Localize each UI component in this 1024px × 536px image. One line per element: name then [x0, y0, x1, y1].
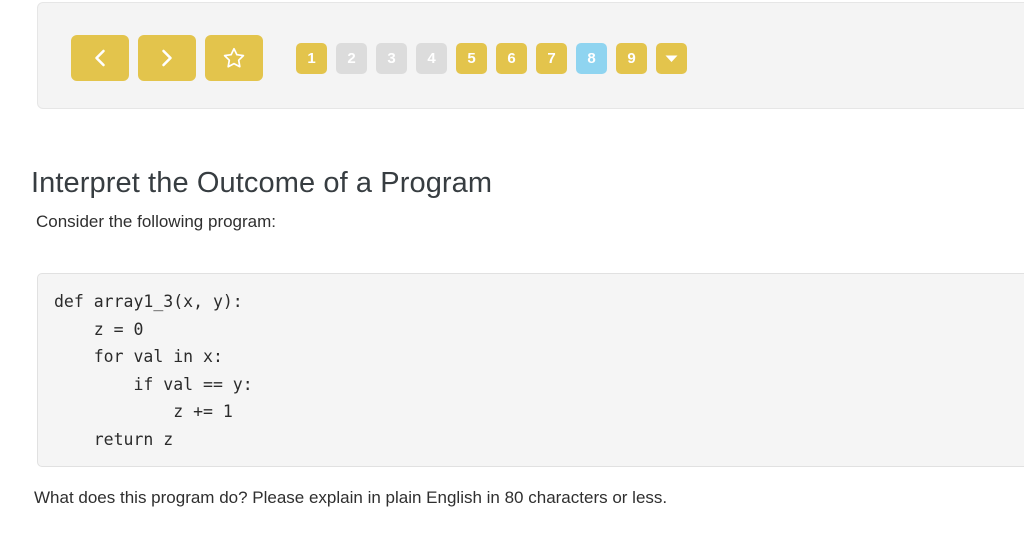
caret-down-icon [665, 51, 678, 66]
page-title: Interpret the Outcome of a Program [31, 167, 492, 200]
page-dropdown-button[interactable] [656, 43, 687, 74]
next-button[interactable] [138, 35, 196, 81]
favorite-button[interactable] [205, 35, 263, 81]
toolbar-panel: 1 2 3 4 5 6 7 8 9 [37, 2, 1024, 109]
chevron-right-icon [157, 47, 177, 69]
page-button-7[interactable]: 7 [536, 43, 567, 74]
pagination: 1 2 3 4 5 6 7 8 9 [296, 43, 687, 74]
code-text: def array1_3(x, y): z = 0 for val in x: … [54, 288, 253, 453]
page-button-4[interactable]: 4 [416, 43, 447, 74]
star-outline-icon [222, 46, 246, 70]
code-block: def array1_3(x, y): z = 0 for val in x: … [37, 273, 1024, 467]
question-text: What does this program do? Please explai… [34, 488, 667, 508]
page-button-5[interactable]: 5 [456, 43, 487, 74]
previous-button[interactable] [71, 35, 129, 81]
page-button-9[interactable]: 9 [616, 43, 647, 74]
toolbar-row: 1 2 3 4 5 6 7 8 9 [71, 35, 687, 81]
page-button-8[interactable]: 8 [576, 43, 607, 74]
page-button-2[interactable]: 2 [336, 43, 367, 74]
page-button-6[interactable]: 6 [496, 43, 527, 74]
page-button-3[interactable]: 3 [376, 43, 407, 74]
intro-text: Consider the following program: [36, 212, 276, 232]
chevron-left-icon [90, 47, 110, 69]
page-button-1[interactable]: 1 [296, 43, 327, 74]
